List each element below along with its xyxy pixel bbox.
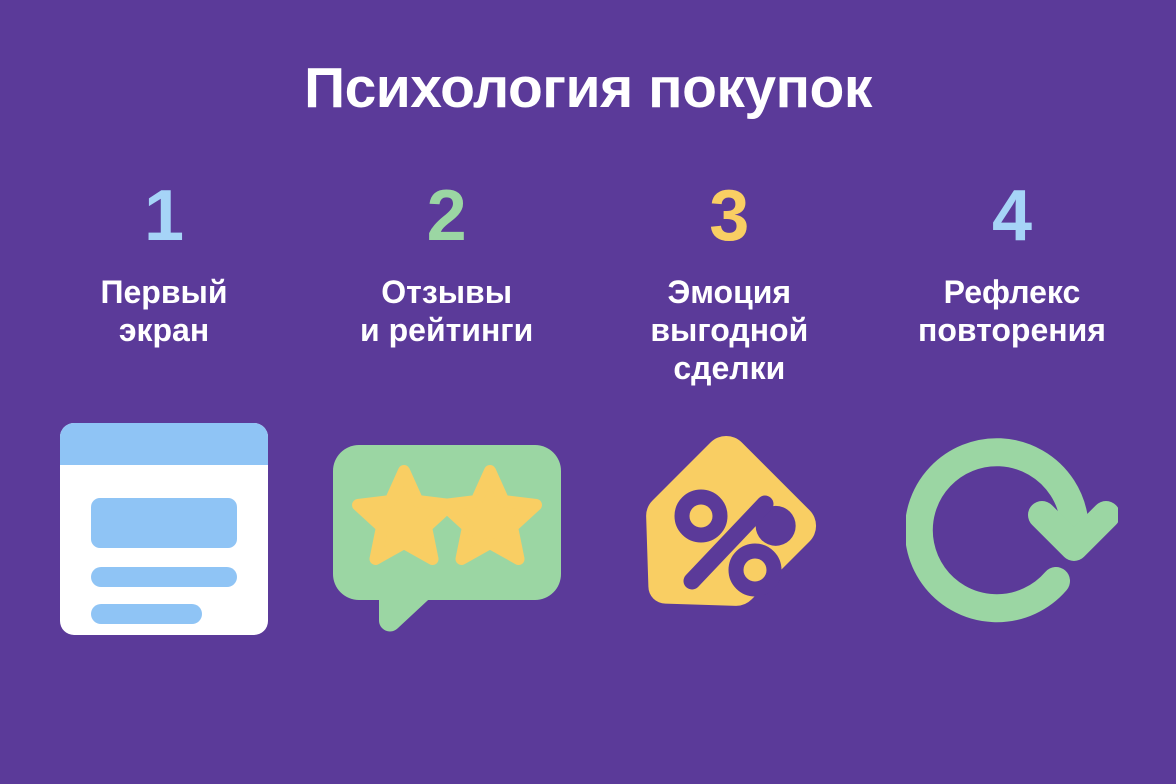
- steps-row: 1 Первый экран 2 Отзывы и рейтинги: [28, 180, 1148, 660]
- browser-window-icon: [58, 423, 270, 635]
- step-icon-2: [311, 423, 583, 638]
- step-item-2: 2 Отзывы и рейтинги: [311, 180, 583, 660]
- step-label-3: Эмоция выгодной сделки: [650, 274, 808, 387]
- step-number-2: 2: [427, 180, 467, 260]
- speech-bubble-shape: [333, 445, 561, 631]
- page-title: Психология покупок: [0, 60, 1176, 117]
- step-number-4: 4: [992, 180, 1032, 260]
- step-icon-3: [593, 423, 865, 638]
- speech-bubble-stars-icon: [329, 423, 565, 635]
- discount-tag-percent-icon: [629, 423, 829, 635]
- tag-shape: [629, 427, 825, 635]
- step-icon-1: [28, 423, 300, 638]
- repeat-arrow-icon: [906, 423, 1118, 635]
- step-label-4: Рефлекс повторения: [918, 274, 1106, 350]
- step-icon-4: [876, 423, 1148, 638]
- infographic-poster: Психология покупок 1 Первый экран 2 Отзы…: [0, 0, 1176, 784]
- step-label-1: Первый экран: [100, 274, 227, 350]
- step-label-2: Отзывы и рейтинги: [360, 274, 533, 350]
- step-number-3: 3: [709, 180, 749, 260]
- step-item-4: 4 Рефлекс повторения: [876, 180, 1148, 660]
- step-item-1: 1 Первый экран: [28, 180, 300, 660]
- step-item-3: 3 Эмоция выгодной сделки: [593, 180, 865, 660]
- step-number-1: 1: [144, 180, 184, 260]
